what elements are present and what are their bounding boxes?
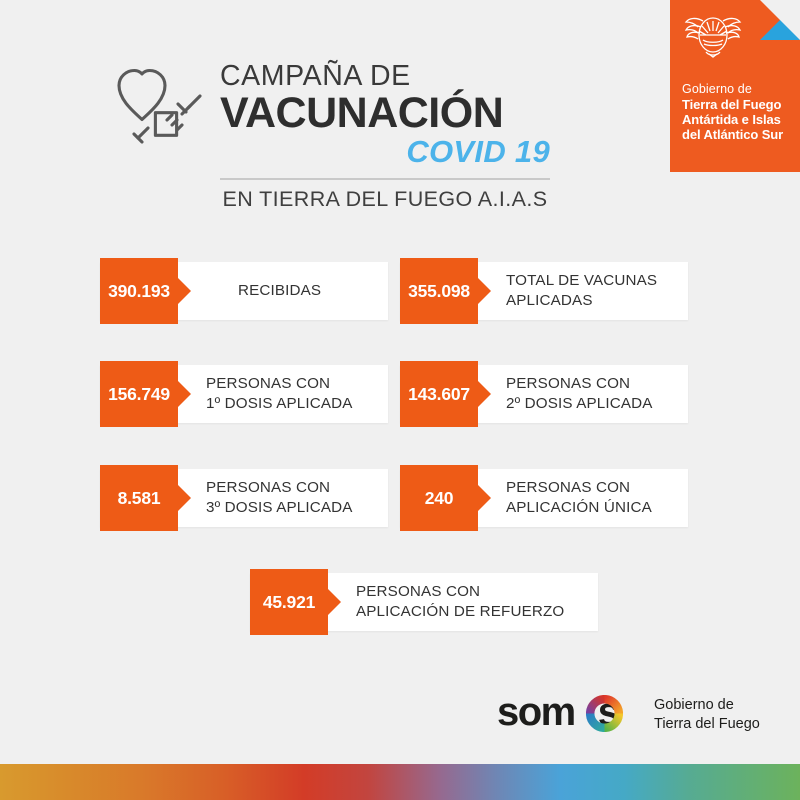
stat-card-badge: 390.193 xyxy=(100,258,178,324)
stat-card-value: 8.581 xyxy=(118,488,161,509)
stat-card-value: 240 xyxy=(425,488,454,509)
somos-tagline-line2: Tierra del Fuego xyxy=(654,715,760,734)
stat-card-badge: 45.921 xyxy=(250,569,328,635)
stat-card-arrow-icon xyxy=(478,381,491,407)
gov-line-3: Antártida e Islas xyxy=(682,112,800,127)
stat-card-label: RECIBIDAS xyxy=(238,258,321,324)
somos-multicolor-ring-icon xyxy=(586,695,623,732)
stat-card-arrow-icon xyxy=(178,278,191,304)
stat-card: 240PERSONAS CON APLICACIÓN ÚNICA xyxy=(400,465,688,531)
stat-card-label: PERSONAS CON 2º DOSIS APLICADA xyxy=(506,361,653,427)
logo-corner-white-triangle xyxy=(760,0,800,40)
stat-card-label: PERSONAS CON 1º DOSIS APLICADA xyxy=(206,361,353,427)
stat-card-badge: 355.098 xyxy=(400,258,478,324)
stat-card-label: PERSONAS CON APLICACIÓN DE REFUERZO xyxy=(356,569,564,635)
stat-card-badge: 8.581 xyxy=(100,465,178,531)
stat-card: 8.581PERSONAS CON 3º DOSIS APLICADA xyxy=(100,465,388,531)
somos-tagline: Gobierno de Tierra del Fuego xyxy=(654,696,760,734)
stat-card: 143.607PERSONAS CON 2º DOSIS APLICADA xyxy=(400,361,688,427)
stat-card-label: PERSONAS CON APLICACIÓN ÚNICA xyxy=(506,465,652,531)
government-logo-block: Gobierno de Tierra del Fuego Antártida e… xyxy=(670,0,800,172)
stat-card-badge: 240 xyxy=(400,465,478,531)
stat-card-value: 45.921 xyxy=(263,592,315,613)
stat-card-arrow-icon xyxy=(478,278,491,304)
stat-card-arrow-icon xyxy=(178,381,191,407)
stat-card-value: 355.098 xyxy=(408,281,470,302)
heart-syringe-icon xyxy=(104,62,208,158)
stat-card-value: 156.749 xyxy=(108,384,170,405)
header-title-group: CAMPAÑA DE VACUNACIÓN COVID 19 EN TIERRA… xyxy=(220,62,550,212)
stat-card-badge: 156.749 xyxy=(100,361,178,427)
infographic-page: Gobierno de Tierra del Fuego Antártida e… xyxy=(0,0,800,800)
stat-card: 156.749PERSONAS CON 1º DOSIS APLICADA xyxy=(100,361,388,427)
bottom-gradient-bar xyxy=(0,764,800,800)
stat-card-arrow-icon xyxy=(328,589,341,615)
stat-card-arrow-icon xyxy=(478,485,491,511)
gov-line-4: del Atlántico Sur xyxy=(682,127,800,142)
stat-card-label: TOTAL DE VACUNAS APLICADAS xyxy=(506,258,657,324)
stat-card-value: 390.193 xyxy=(108,281,170,302)
somos-text-part1: som xyxy=(497,690,575,734)
stat-card: 355.098TOTAL DE VACUNAS APLICADAS xyxy=(400,258,688,324)
stat-card-badge: 143.607 xyxy=(400,361,478,427)
stat-card-arrow-icon xyxy=(178,485,191,511)
title-subtitle: EN TIERRA DEL FUEGO A.I.A.S xyxy=(220,187,550,212)
stat-card: 390.193RECIBIDAS xyxy=(100,258,388,324)
stat-card-label: PERSONAS CON 3º DOSIS APLICADA xyxy=(206,465,353,531)
government-logo-text: Gobierno de Tierra del Fuego Antártida e… xyxy=(682,82,800,143)
somos-logo: somos xyxy=(497,689,767,735)
gov-line-2: Tierra del Fuego xyxy=(682,97,800,112)
title-campana: CAMPAÑA DE xyxy=(220,62,550,91)
stat-card: 45.921PERSONAS CON APLICACIÓN DE REFUERZ… xyxy=(250,569,598,635)
title-vacunacion: VACUNACIÓN xyxy=(220,92,550,136)
title-divider xyxy=(220,178,550,180)
stat-card-value: 143.607 xyxy=(408,384,470,405)
gov-line-1: Gobierno de xyxy=(682,82,800,97)
somos-tagline-line1: Gobierno de xyxy=(654,696,760,715)
tierra-del-fuego-coat-of-arms-icon xyxy=(684,9,742,63)
title-covid19: COVID 19 xyxy=(220,136,550,169)
